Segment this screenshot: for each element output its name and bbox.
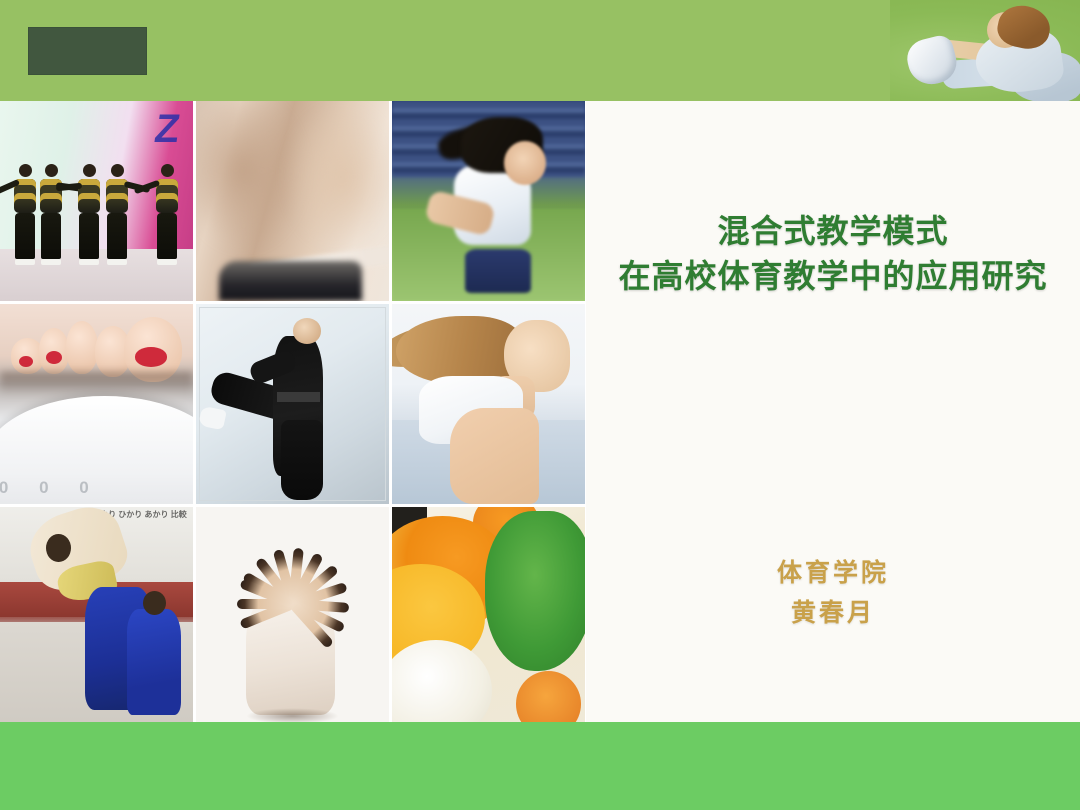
shoulder-shape [450, 408, 539, 504]
head-shape [143, 591, 166, 615]
photo-dance-troupe: Z [0, 101, 193, 301]
dark-region [219, 261, 362, 301]
photo-group-formation [196, 507, 389, 728]
face-shape [504, 141, 546, 185]
photo-woman-profile [392, 304, 585, 504]
dancer-figure [14, 164, 36, 265]
leafy-greens [485, 511, 585, 670]
tomato-shape [516, 671, 582, 728]
belt-shape [277, 392, 319, 402]
author-block: 体育学院 黄春月 [586, 553, 1080, 633]
woman-stretching-photo [890, 0, 1080, 101]
head-shape [293, 318, 322, 344]
scale-dial-numbers: 0 0 0 [0, 478, 193, 504]
photo-legs-closeup [196, 101, 389, 301]
dancer-figure [106, 164, 128, 265]
blur-shape [285, 105, 389, 249]
onion-shape [392, 640, 492, 728]
shorts-shape [465, 249, 531, 293]
slide-title: 混合式教学模式 在高校体育教学中的应用研究 [586, 209, 1080, 300]
photo-feet-scale: 0 0 0 [0, 304, 193, 504]
dancer-figure [40, 164, 62, 265]
dancer-figure [78, 164, 100, 265]
blue-uniform-back [127, 609, 181, 715]
title-line-2: 在高校体育教学中的应用研究 [586, 254, 1080, 299]
photo-kick-pose [196, 304, 389, 504]
photo-fruit-veg [392, 507, 585, 728]
footer-band [0, 722, 1080, 810]
author-organization: 体育学院 [586, 553, 1080, 593]
shadow-overlay [0, 372, 193, 396]
author-name: 黄春月 [586, 593, 1080, 633]
bathroom-scale: 0 0 0 [0, 396, 193, 504]
standing-leg [281, 420, 323, 500]
title-block: 混合式教学模式 在高校体育教学中的应用研究 体育学院 黄春月 [586, 101, 1080, 722]
photo-runner [392, 101, 585, 301]
title-line-1: 混合式教学模式 [586, 209, 1080, 254]
header-band [0, 0, 1080, 101]
photo-collage: Z [0, 101, 586, 722]
photo-wushu: より ひかり あかり 比較 [0, 507, 193, 728]
stage-logo-text: Z [151, 107, 182, 152]
presentation-slide: Z [0, 0, 1080, 810]
dancer-figure [156, 164, 178, 265]
logo-placeholder-box [28, 27, 147, 75]
